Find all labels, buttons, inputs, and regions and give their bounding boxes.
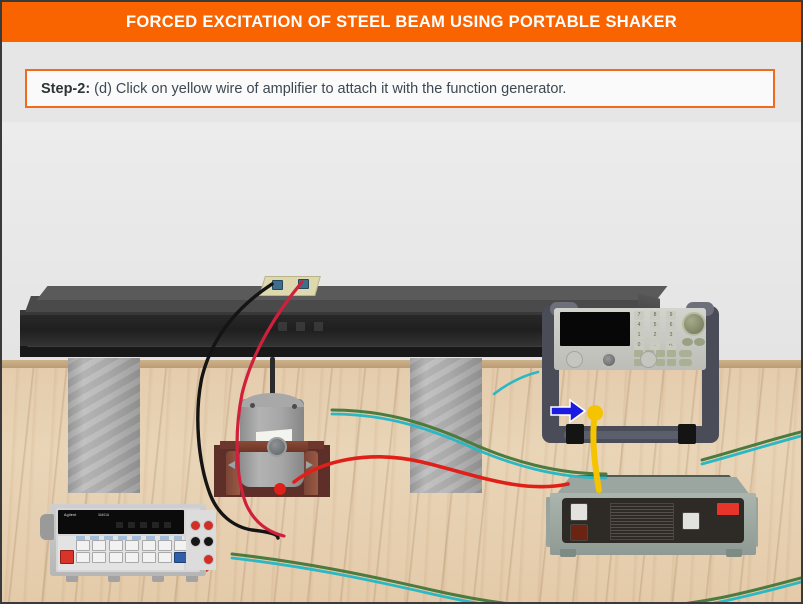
funcgen-front-panel: 7 8 9 4 5 6 1 2 3 0 . +/- — [554, 308, 706, 370]
funcgen-key-sign[interactable]: +/- — [666, 341, 676, 350]
multimeter-button[interactable] — [125, 540, 139, 551]
experiment-scene: Agilent 34401A — [2, 122, 801, 602]
accelerometer-sensor[interactable] — [262, 274, 316, 296]
power-amplifier[interactable] — [548, 477, 758, 565]
amplifier-foot-left — [560, 549, 576, 557]
funcgen-keypad: 7 8 9 4 5 6 1 2 3 0 . +/- — [634, 311, 679, 349]
funcgen-bail-block-right — [678, 424, 696, 444]
multimeter-segment-readout — [116, 522, 174, 528]
multimeter-model-label: 34401A — [98, 513, 109, 517]
multimeter-jack-hi-red[interactable] — [190, 520, 201, 531]
multimeter-button[interactable] — [109, 552, 123, 563]
multimeter-foot-far-right — [186, 576, 198, 582]
multimeter-power-button[interactable] — [60, 550, 74, 564]
multimeter-button[interactable] — [158, 552, 172, 563]
funcgen-key-5[interactable]: 5 — [650, 321, 660, 330]
amplifier-foot-right — [726, 549, 742, 557]
funcgen-key-2[interactable]: 2 — [650, 331, 660, 340]
multimeter-brand-label: Agilent — [64, 513, 76, 517]
multimeter-side-handle — [40, 514, 54, 540]
experiment-simulation-window: FORCED EXCITATION OF STEEL BEAM USING PO… — [0, 0, 803, 604]
multimeter-jack-lo-black[interactable] — [190, 536, 201, 547]
funcgen-display — [560, 312, 630, 346]
shaker-bolt-left — [250, 403, 255, 408]
multimeter-button-row-top — [76, 540, 188, 551]
multimeter-button-panel — [58, 536, 184, 570]
multimeter-jack-current-red[interactable] — [203, 554, 214, 565]
multimeter-button[interactable] — [158, 540, 172, 551]
funcgen-key-3[interactable]: 3 — [666, 331, 676, 340]
amplifier-button-white-right[interactable] — [682, 512, 700, 530]
shaker-arrow-left-icon — [228, 461, 235, 469]
step-label: Step-2: — [41, 81, 90, 97]
shaker-clamp-right — [304, 451, 318, 495]
shaker-center-hub — [267, 437, 287, 457]
funcgen-output-connector-left[interactable] — [566, 351, 583, 368]
funcgen-softkey[interactable] — [667, 359, 676, 366]
instruction-box: Step-2: (d) Click on yellow wire of ampl… — [25, 69, 775, 108]
portable-shaker[interactable] — [214, 401, 330, 497]
beam-top-face — [37, 286, 668, 300]
amplifier-shell — [550, 493, 756, 555]
funcgen-key-decimal[interactable]: . — [650, 341, 660, 350]
funcgen-key-9[interactable]: 9 — [666, 311, 676, 320]
funcgen-bail-block-left — [566, 424, 584, 444]
multimeter-foot-mid — [108, 576, 120, 582]
shaker-arrow-right-icon — [306, 461, 313, 469]
page-title: FORCED EXCITATION OF STEEL BEAM USING PO… — [126, 13, 677, 32]
funcgen-arrow-left-button[interactable] — [682, 338, 693, 346]
amplifier-button-white-left[interactable] — [570, 503, 588, 521]
multimeter-button[interactable] — [125, 552, 139, 563]
multimeter-terminal-panel — [186, 510, 216, 570]
amplifier-ventilation-grille — [610, 503, 674, 540]
funcgen-key-4[interactable]: 4 — [634, 321, 644, 330]
multimeter-button[interactable] — [92, 552, 106, 563]
multimeter-button-row-bottom — [76, 552, 188, 563]
funcgen-output-connector-right[interactable] — [640, 351, 657, 368]
funcgen-softkey-wide[interactable] — [679, 350, 692, 357]
funcgen-softkey[interactable] — [656, 359, 665, 366]
sensor-body — [259, 276, 321, 296]
step-description: (d) Click on yellow wire of amplifier to… — [90, 81, 566, 97]
funcgen-softkey[interactable] — [656, 350, 665, 357]
funcgen-power-button[interactable] — [601, 352, 617, 368]
funcgen-key-0[interactable]: 0 — [634, 341, 644, 350]
funcgen-key-7[interactable]: 7 — [634, 311, 644, 320]
amplifier-button-brown[interactable] — [570, 524, 588, 541]
multimeter-button[interactable] — [76, 552, 90, 563]
amplifier-front-panel — [562, 498, 744, 543]
multimeter-jack-common-black[interactable] — [203, 536, 214, 547]
function-generator[interactable]: 7 8 9 4 5 6 1 2 3 0 . +/- — [538, 300, 724, 460]
sensor-terminal-right — [298, 279, 309, 289]
shaker-bolt-right — [292, 404, 297, 409]
funcgen-softkey[interactable] — [667, 350, 676, 357]
sensor-terminal-left — [272, 280, 283, 290]
funcgen-rotary-knob[interactable] — [682, 312, 706, 336]
funcgen-softkey-wide[interactable] — [679, 359, 692, 366]
funcgen-arrow-right-button[interactable] — [694, 338, 705, 346]
multimeter-button[interactable] — [142, 552, 156, 563]
multimeter-button[interactable] — [109, 540, 123, 551]
shaker-clamp-left — [226, 451, 240, 495]
instruction-bar: Step-2: (d) Click on yellow wire of ampl… — [2, 42, 801, 122]
multimeter-front-panel: Agilent 34401A — [56, 508, 200, 572]
funcgen-key-1[interactable]: 1 — [634, 331, 644, 340]
pointer-arrow-shape — [551, 400, 585, 422]
instruction-text: Step-2: (d) Click on yellow wire of ampl… — [27, 81, 566, 97]
amplifier-status-indicator — [717, 503, 739, 515]
multimeter-foot-right — [152, 576, 164, 582]
agilent-multimeter[interactable]: Agilent 34401A — [40, 500, 212, 588]
multimeter-foot-left — [66, 576, 78, 582]
beam-surface-marking — [278, 322, 338, 331]
pointer-arrow-icon — [550, 398, 586, 424]
multimeter-button[interactable] — [76, 540, 90, 551]
app-header: FORCED EXCITATION OF STEEL BEAM USING PO… — [2, 2, 801, 42]
multimeter-jack-input-red[interactable] — [203, 520, 214, 531]
multimeter-button[interactable] — [142, 540, 156, 551]
multimeter-display: Agilent 34401A — [58, 510, 184, 534]
multimeter-button[interactable] — [92, 540, 106, 551]
funcgen-key-8[interactable]: 8 — [650, 311, 660, 320]
funcgen-key-6[interactable]: 6 — [666, 321, 676, 330]
